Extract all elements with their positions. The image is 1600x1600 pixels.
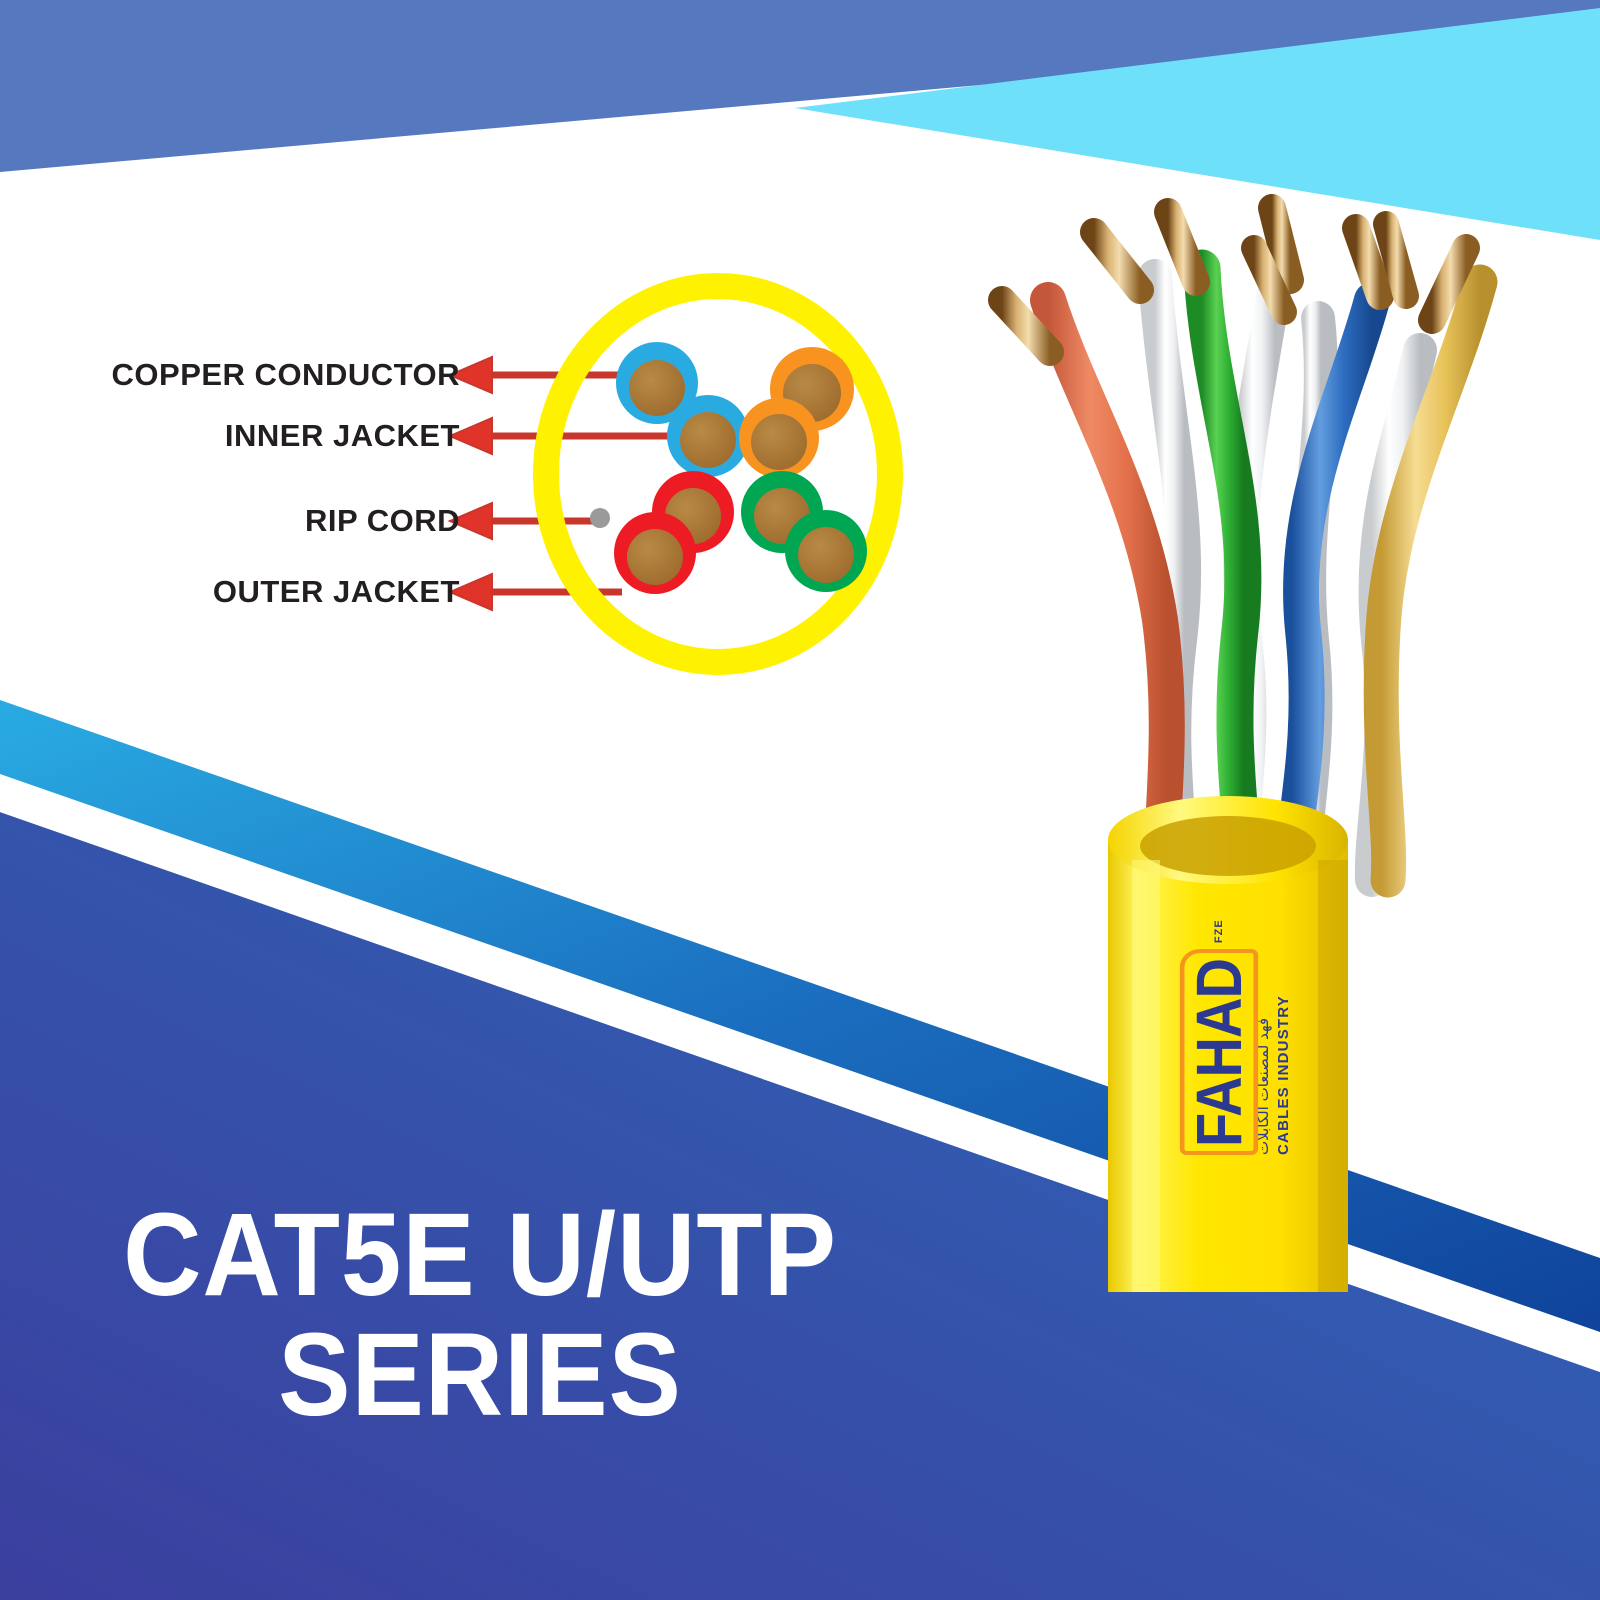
pair-red	[614, 471, 734, 594]
pair-blue	[616, 342, 749, 477]
callout-outer-jacket: OUTER JACKET	[213, 572, 460, 612]
orange-wire-2-copper-core	[751, 414, 807, 470]
callout-rip-cord-label: RIP CORD	[305, 503, 460, 539]
green-wire-2-copper-core	[798, 527, 854, 583]
pair-green	[741, 471, 867, 592]
pair-orange	[739, 347, 854, 478]
poster-title-line-1: CAT5E U/UTP	[38, 1195, 921, 1315]
blue-wire-2-copper-core	[680, 412, 736, 468]
callout-copper-conductor-label: COPPER CONDUCTOR	[112, 357, 460, 393]
rip-cord-dot	[590, 508, 610, 528]
callout-copper-conductor: COPPER CONDUCTOR	[112, 355, 460, 395]
poster-title-line-2: SERIES	[38, 1315, 921, 1435]
red-wire-2-copper-core	[627, 529, 683, 585]
callout-outer-jacket-label: OUTER JACKET	[213, 574, 460, 610]
blue-wire-1-copper-core	[629, 360, 685, 416]
callout-rip-cord: RIP CORD	[305, 501, 460, 541]
callout-label-column: COPPER CONDUCTOR INNER JACKET RIP CORD O…	[0, 330, 460, 630]
poster-title: CAT5E U/UTP SERIES	[0, 1195, 960, 1436]
product-poster: COPPER CONDUCTOR INNER JACKET RIP CORD O…	[0, 0, 1600, 1600]
callout-inner-jacket: INNER JACKET	[225, 416, 460, 456]
callout-inner-jacket-label: INNER JACKET	[225, 418, 460, 454]
